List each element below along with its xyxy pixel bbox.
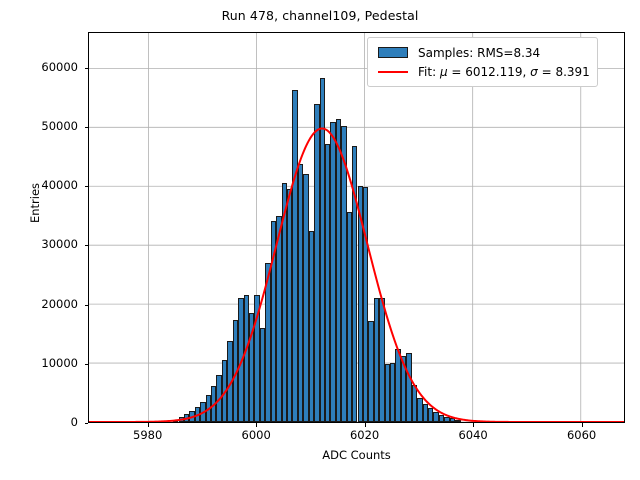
legend-item-fit: Fit: μ = 6012.119, σ = 8.391 — [374, 62, 590, 81]
x-tick-label: 6060 — [552, 428, 612, 442]
x-tick-label: 6040 — [443, 428, 503, 442]
page-title: Run 478, channel109, Pedestal — [0, 8, 640, 23]
x-tick-mark — [473, 423, 474, 427]
legend-item-samples: Samples: RMS=8.34 — [374, 43, 590, 62]
y-tick-mark — [85, 127, 89, 128]
legend-label-samples: Samples: RMS=8.34 — [412, 46, 540, 60]
y-tick-mark — [85, 423, 89, 424]
legend-patch-icon — [374, 47, 412, 58]
legend-fit-sigma-value: = 8.391 — [538, 65, 590, 79]
legend-fit-sigma-symbol: σ — [530, 65, 538, 79]
x-tick-label: 6020 — [335, 428, 395, 442]
x-tick-mark — [582, 423, 583, 427]
legend-fit-prefix: Fit: — [418, 65, 440, 79]
y-tick-label: 60000 — [0, 60, 78, 74]
legend-fit-mu-symbol: μ — [440, 65, 448, 79]
x-tick-label: 6000 — [226, 428, 286, 442]
figure-canvas: Run 478, channel109, Pedestal 5980600060… — [0, 0, 640, 480]
chart-legend: Samples: RMS=8.34 Fit: μ = 6012.119, σ =… — [367, 37, 598, 87]
y-tick-label: 10000 — [0, 356, 78, 370]
legend-fit-mu-value: = 6012.119, — [448, 65, 531, 79]
plot-area — [88, 32, 625, 423]
y-tick-mark — [85, 245, 89, 246]
y-tick-label: 20000 — [0, 297, 78, 311]
x-axis-label: ADC Counts — [88, 448, 625, 462]
x-tick-label: 5980 — [118, 428, 178, 442]
y-tick-mark — [85, 305, 89, 306]
gaussian-fit-curve — [89, 33, 624, 422]
y-tick-label: 50000 — [0, 119, 78, 133]
y-tick-mark — [85, 364, 89, 365]
y-tick-mark — [85, 186, 89, 187]
legend-line-icon — [374, 71, 412, 73]
x-tick-mark — [148, 423, 149, 427]
y-axis-label: Entries — [28, 143, 42, 263]
y-tick-mark — [85, 68, 89, 69]
legend-label-fit: Fit: μ = 6012.119, σ = 8.391 — [412, 65, 590, 79]
x-tick-mark — [256, 423, 257, 427]
y-tick-label: 0 — [0, 415, 78, 429]
x-tick-mark — [365, 423, 366, 427]
